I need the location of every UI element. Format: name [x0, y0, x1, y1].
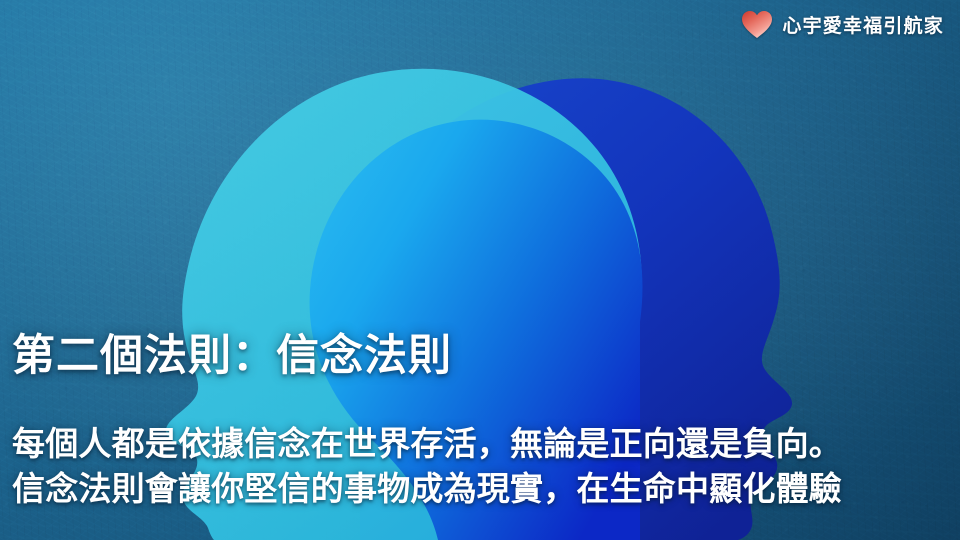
brand-logo: 心宇愛幸福引航家: [741, 9, 944, 39]
heart-icon: [741, 9, 773, 39]
slide-canvas: 心宇愛幸福引航家 第二個法則：信念法則 每個人都是依據信念在世界存活，無論是正向…: [0, 0, 960, 540]
headline-title: 第二個法則：信念法則: [12, 333, 950, 379]
body-line-2: 信念法則會讓你堅信的事物成為現實，在生命中顯化體驗: [12, 466, 950, 512]
brand-name: 心宇愛幸福引航家: [782, 11, 944, 38]
body-line-1: 每個人都是依據信念在世界存活，無論是正向還是負向。: [12, 421, 950, 467]
caption-block: 第二個法則：信念法則 每個人都是依據信念在世界存活，無論是正向還是負向。 信念法…: [12, 333, 950, 513]
